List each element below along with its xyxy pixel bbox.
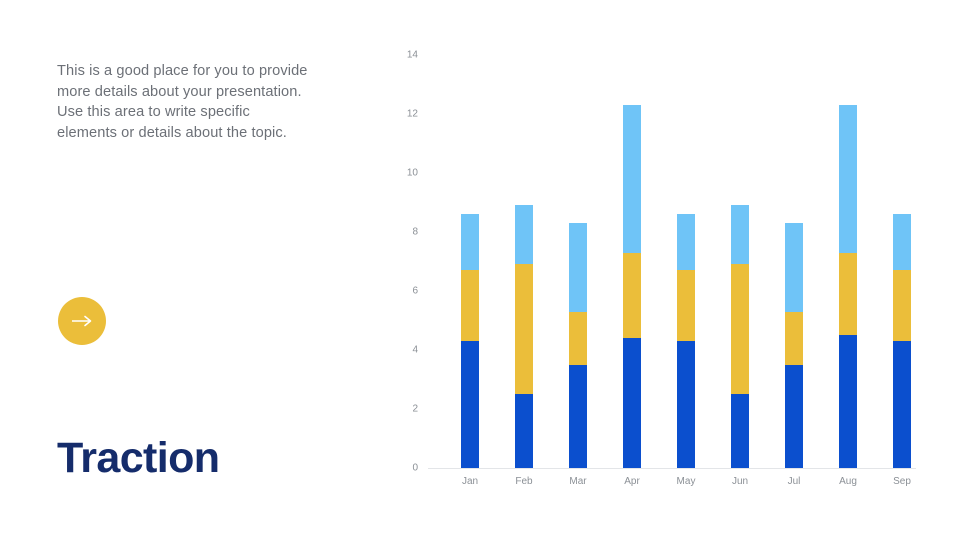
bar-group[interactable] <box>722 55 758 468</box>
x-axis-tick-label: Apr <box>614 476 650 487</box>
bar-segment[interactable] <box>677 214 695 270</box>
stacked-bar[interactable] <box>569 223 587 468</box>
slide-canvas: This is a good place for you to provide … <box>0 0 980 551</box>
bar-segment[interactable] <box>569 223 587 312</box>
bar-segment[interactable] <box>785 223 803 312</box>
x-axis-tick-label: Feb <box>506 476 542 487</box>
arrow-right-icon <box>71 315 93 327</box>
stacked-bar[interactable] <box>623 105 641 468</box>
stacked-bar[interactable] <box>515 205 533 468</box>
bar-group[interactable] <box>830 55 866 468</box>
bar-group[interactable] <box>614 55 650 468</box>
bar-segment[interactable] <box>785 312 803 365</box>
y-axis: 02468101214 <box>396 55 418 495</box>
bar-group[interactable] <box>776 55 812 468</box>
plot-area <box>428 55 916 468</box>
bar-segment[interactable] <box>623 253 641 339</box>
x-axis-tick-label: Aug <box>830 476 866 487</box>
y-axis-tick-label: 4 <box>384 345 418 356</box>
bar-segment[interactable] <box>893 270 911 341</box>
x-axis-tick-label: Jul <box>776 476 812 487</box>
y-axis-tick-label: 12 <box>384 109 418 120</box>
y-axis-tick-label: 8 <box>384 227 418 238</box>
bar-segment[interactable] <box>893 214 911 270</box>
bar-segment[interactable] <box>569 365 587 468</box>
bar-group[interactable] <box>560 55 596 468</box>
x-axis-tick-label: Jun <box>722 476 758 487</box>
stacked-bar[interactable] <box>893 214 911 468</box>
bar-segment[interactable] <box>785 365 803 468</box>
bar-segment[interactable] <box>893 341 911 468</box>
left-panel: This is a good place for you to provide … <box>57 0 357 551</box>
bar-segment[interactable] <box>677 270 695 341</box>
bar-segment[interactable] <box>461 341 479 468</box>
bar-segment[interactable] <box>461 214 479 270</box>
y-axis-tick-label: 2 <box>384 404 418 415</box>
stacked-bar[interactable] <box>677 214 695 468</box>
stacked-bar[interactable] <box>839 105 857 468</box>
bar-segment[interactable] <box>461 270 479 341</box>
x-axis-tick-label: May <box>668 476 704 487</box>
bar-segment[interactable] <box>839 105 857 253</box>
y-axis-tick-label: 10 <box>384 168 418 179</box>
bar-segment[interactable] <box>731 394 749 468</box>
page-title: Traction <box>57 434 219 483</box>
bar-segment[interactable] <box>623 105 641 253</box>
bar-segment[interactable] <box>515 394 533 468</box>
x-axis-tick-label: Mar <box>560 476 596 487</box>
stacked-bar-chart: 02468101214 JanFebMarAprMayJunJulAugSep <box>396 55 916 495</box>
bar-group[interactable] <box>506 55 542 468</box>
bar-segment[interactable] <box>677 341 695 468</box>
bar-segment[interactable] <box>515 205 533 264</box>
bar-segment[interactable] <box>839 253 857 336</box>
bar-group[interactable] <box>452 55 488 468</box>
x-axis-baseline <box>428 468 916 469</box>
bar-segment[interactable] <box>839 335 857 468</box>
y-axis-tick-label: 14 <box>384 50 418 61</box>
arrow-right-button[interactable] <box>58 297 106 345</box>
bar-group[interactable] <box>668 55 704 468</box>
bar-segment[interactable] <box>731 264 749 394</box>
bar-segment[interactable] <box>515 264 533 394</box>
bar-segment[interactable] <box>569 312 587 365</box>
x-axis-tick-label: Sep <box>884 476 920 487</box>
x-axis-tick-label: Jan <box>452 476 488 487</box>
stacked-bar[interactable] <box>461 214 479 468</box>
stacked-bar[interactable] <box>731 205 749 468</box>
y-axis-tick-label: 6 <box>384 286 418 297</box>
stacked-bar[interactable] <box>785 223 803 468</box>
bar-segment[interactable] <box>623 338 641 468</box>
y-axis-tick-label: 0 <box>384 463 418 474</box>
body-text: This is a good place for you to provide … <box>57 61 309 143</box>
bar-group[interactable] <box>884 55 920 468</box>
bar-segment[interactable] <box>731 205 749 264</box>
